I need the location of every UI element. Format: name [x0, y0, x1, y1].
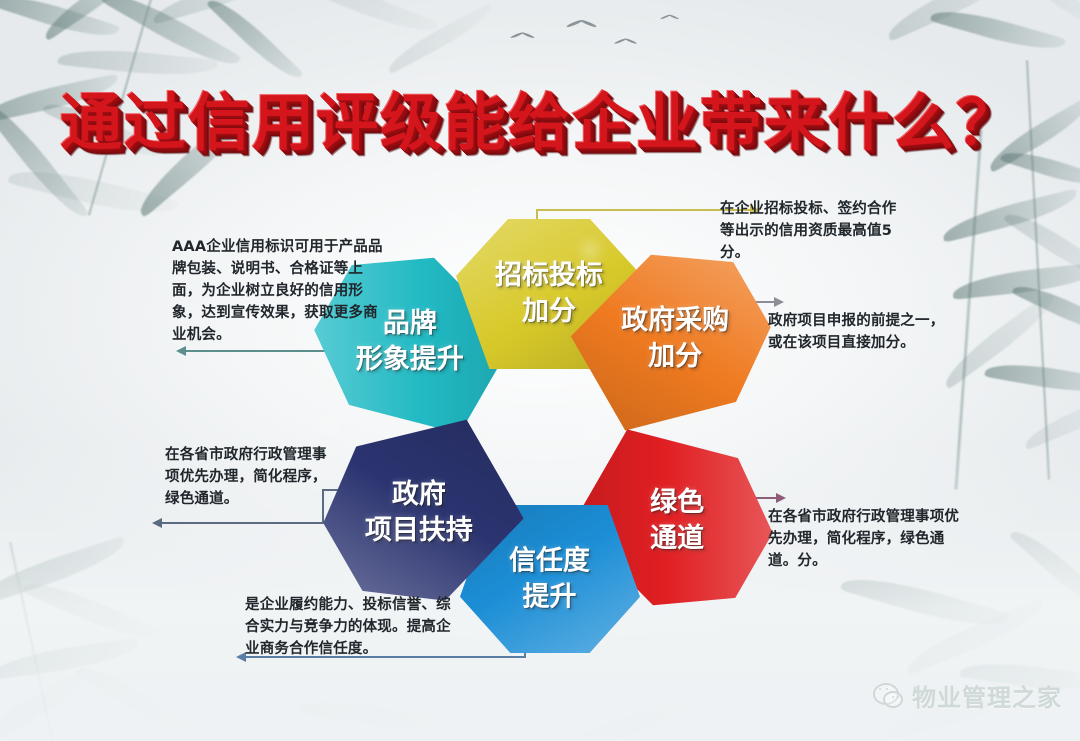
hex-label-line1: 品牌 — [383, 308, 437, 340]
hex-label-line2: 提升 — [523, 581, 577, 613]
note-gov-project: 在各省市政府行政管理事项优先办理，简化程序，绿色通道。 — [165, 444, 331, 510]
hex-label-line1: 政府 — [392, 479, 446, 511]
note-gov-purchase: 政府项目申报的前提之一，或在该项目直接加分。 — [768, 310, 952, 354]
note-trust: 是企业履约能力、投标信誉、综合实力与竞争力的体现。提高企业商务合作信任度。 — [245, 594, 457, 660]
hex-label-line2: 项目扶持 — [365, 515, 473, 547]
hex-label-line1: 招标投标 — [495, 260, 603, 292]
hex-label-line1: 政府采购 — [621, 305, 729, 337]
brand-watermark: 物业管理之家 — [873, 678, 1062, 713]
hex-label-line2: 加分 — [522, 296, 576, 328]
wechat-icon — [873, 683, 903, 708]
note-bidding: 在企业招标投标、签约合作等出示的信用资质最高值5分。 — [720, 198, 906, 264]
poster-canvas: 通过信用评级能给企业带来什么？ — [0, 0, 1080, 741]
hex-label-line2: 形象提升 — [356, 344, 464, 376]
hex-label-line2: 加分 — [648, 341, 702, 373]
page-title: 通过信用评级能给企业带来什么？ — [0, 72, 1080, 162]
note-brand-image: AAA企业信用标识可用于产品品牌包装、说明书、合格证等上面，为企业树立良好的信用… — [172, 236, 390, 346]
brand-name: 物业管理之家 — [912, 678, 1062, 713]
note-green-channel: 在各省市政府行政管理事项优先办理，简化程序，绿色通道。分。 — [768, 506, 968, 572]
hex-label-line1: 绿色 — [650, 487, 704, 519]
hex-label-line2: 通道 — [650, 523, 704, 555]
hex-label-line1: 信任度 — [510, 545, 591, 577]
